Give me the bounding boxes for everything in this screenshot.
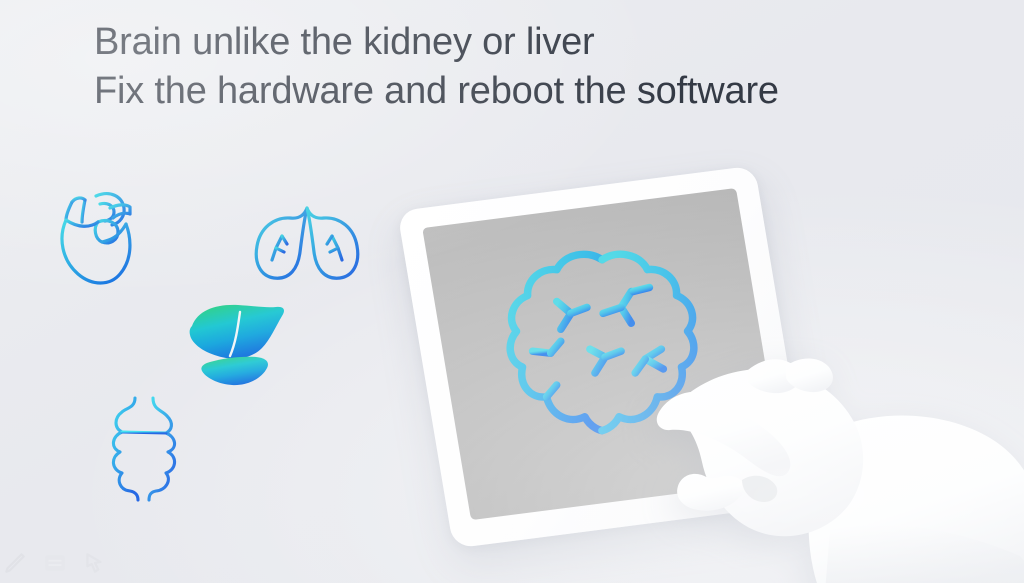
- brain-icon: [494, 246, 710, 445]
- intestines-icon: [104, 392, 188, 502]
- lungs-icon: [246, 186, 368, 282]
- ghost-toolbar: [0, 543, 108, 583]
- tablet-screen[interactable]: [422, 188, 785, 520]
- heart-icon: [52, 178, 152, 286]
- tablet-device[interactable]: [397, 165, 811, 548]
- slide-canvas: Brain unlike the kidney or liver Fix the…: [0, 0, 1024, 583]
- headline-line-2: Fix the hardware and reboot the software: [94, 67, 974, 116]
- cursor-icon[interactable]: [82, 550, 108, 576]
- pen-icon[interactable]: [2, 550, 28, 576]
- liver-icon: [180, 296, 290, 392]
- headline-line-1: Brain unlike the kidney or liver: [94, 18, 974, 67]
- page-title: Brain unlike the kidney or liver Fix the…: [94, 18, 974, 116]
- text-lines-icon[interactable]: [42, 550, 68, 576]
